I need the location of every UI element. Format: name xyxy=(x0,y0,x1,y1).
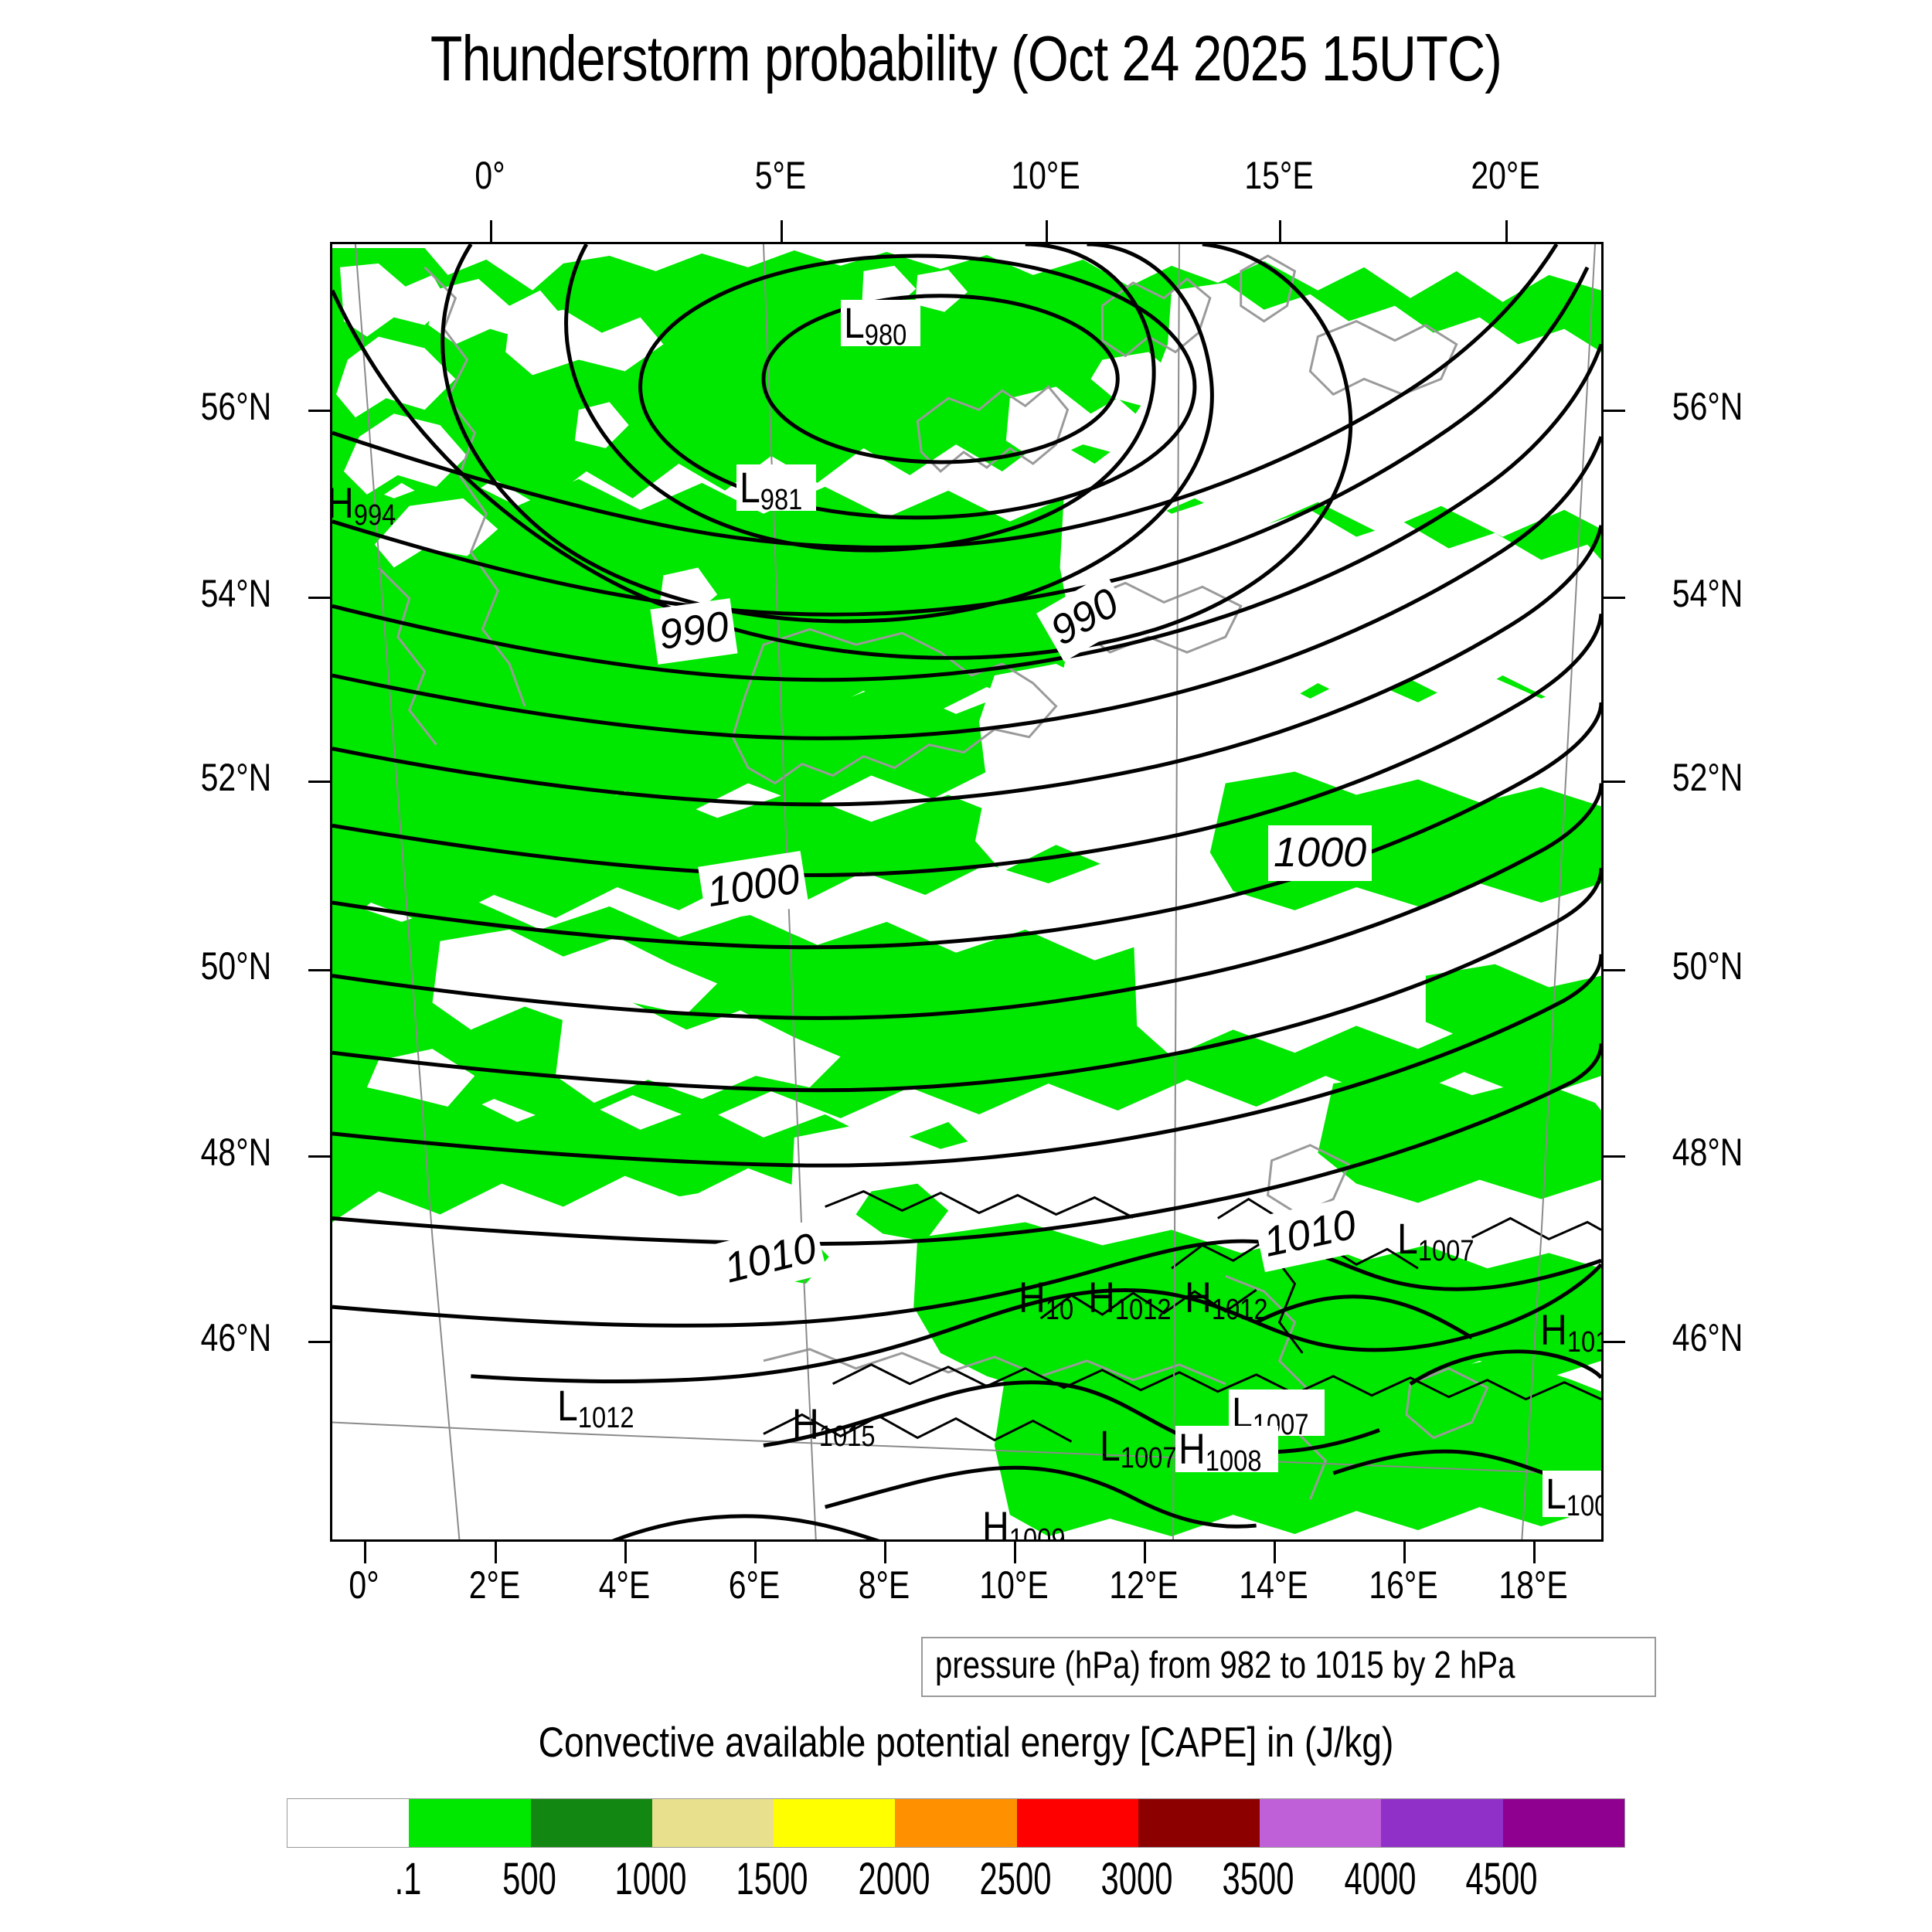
centre-value: 1007 xyxy=(1121,1442,1177,1475)
axis-label-bottom-6: 6°E xyxy=(716,1563,792,1607)
pressure-centre-low-1012: L1012 xyxy=(557,1384,647,1427)
pressure-centre-low-1007-east: L1007 xyxy=(1397,1217,1487,1260)
centre-value: 10 xyxy=(1046,1294,1073,1326)
axis-label-bottom-12: 12°E xyxy=(1100,1563,1189,1607)
tick-bottom-16 xyxy=(1403,1542,1406,1563)
axis-label-top-5: 5°E xyxy=(743,153,818,198)
axis-label-right-52: 52°N xyxy=(1672,755,1875,800)
tick-left-46 xyxy=(308,1341,330,1343)
colorbar-tick-3500: 3500 xyxy=(1213,1853,1302,1905)
colorbar-swatch-1000 xyxy=(652,1799,774,1847)
centre-type: L xyxy=(740,463,760,512)
centre-value: 1012 xyxy=(1115,1294,1172,1326)
centre-value: 1009 xyxy=(1009,1523,1066,1542)
tick-top-20 xyxy=(1505,220,1508,242)
centre-type: L xyxy=(557,1381,578,1430)
page-title: Thunderstorm probability (Oct 24 2025 15… xyxy=(174,22,1758,96)
axis-label-bottom-16: 16°E xyxy=(1359,1563,1448,1607)
axis-label-top-20: 20°E xyxy=(1461,153,1550,198)
colorbar-swatch-2000 xyxy=(895,1799,1016,1847)
tick-bottom-12 xyxy=(1144,1542,1146,1563)
weather-map[interactable]: 990 990 1000 1000 1010 1010 L980 L981 H9… xyxy=(330,242,1604,1542)
centre-value: 994 xyxy=(354,499,396,532)
centre-value: 1012 xyxy=(1212,1294,1268,1326)
tick-top-15 xyxy=(1279,220,1281,242)
pressure-centre-low-1007-c: L1007 xyxy=(1543,1471,1604,1517)
axis-label-right-46: 46°N xyxy=(1672,1315,1875,1360)
colorbar-swatch-3000 xyxy=(1138,1799,1260,1847)
pressure-centre-high-1015: H1015 xyxy=(792,1403,889,1446)
pressure-centre-high-994: H994 xyxy=(330,481,407,525)
centre-type: H xyxy=(792,1400,819,1448)
axis-label-bottom-4: 4°E xyxy=(587,1563,662,1607)
tick-left-56 xyxy=(308,410,330,412)
axis-label-bottom-10: 10°E xyxy=(970,1563,1059,1607)
pressure-centre-high-101-east: H101 xyxy=(1540,1308,1604,1352)
pressure-centre-high-1012-a: H1012 xyxy=(1088,1276,1185,1319)
centre-type: H xyxy=(982,1502,1009,1542)
cape-mask xyxy=(332,244,1601,1539)
colorbar-swatch-1500 xyxy=(774,1799,895,1847)
tick-bottom-6 xyxy=(754,1542,757,1563)
colorbar-swatch-0.1 xyxy=(409,1799,530,1847)
colorbar-tick-500: 500 xyxy=(485,1853,573,1905)
centre-value: 101 xyxy=(1567,1326,1604,1359)
tick-left-48 xyxy=(308,1155,330,1158)
tick-right-54 xyxy=(1604,597,1625,599)
centre-type: L xyxy=(1100,1421,1121,1470)
axis-label-left-56: 56°N xyxy=(69,384,271,429)
colorbar-tick-2500: 2500 xyxy=(971,1853,1060,1905)
colorbar-tick-1500: 1500 xyxy=(727,1853,816,1905)
tick-right-46 xyxy=(1604,1341,1625,1343)
tick-left-50 xyxy=(308,969,330,971)
colorbar-swatch-4000 xyxy=(1381,1799,1502,1847)
centre-type: H xyxy=(1185,1273,1212,1321)
centre-value: 1007 xyxy=(1418,1235,1475,1267)
colorbar-swatch-500 xyxy=(531,1799,652,1847)
colorbar-swatch-2500 xyxy=(1017,1799,1138,1847)
axis-label-left-46: 46°N xyxy=(69,1315,271,1360)
axis-label-top-10: 10°E xyxy=(1002,153,1090,198)
map-canvas xyxy=(332,244,1601,1539)
tick-left-52 xyxy=(308,781,330,783)
colorbar-tick-2000: 2000 xyxy=(849,1853,938,1905)
centre-value: 1012 xyxy=(578,1402,634,1434)
cape-colorbar[interactable] xyxy=(287,1798,1625,1848)
axis-label-bottom-18: 18°E xyxy=(1489,1563,1578,1607)
tick-bottom-0 xyxy=(364,1542,366,1563)
axis-label-right-56: 56°N xyxy=(1672,384,1875,429)
tick-right-50 xyxy=(1604,969,1625,971)
axis-label-right-50: 50°N xyxy=(1672,944,1875,988)
tick-right-48 xyxy=(1604,1155,1625,1158)
pressure-centre-high-10: H10 xyxy=(1019,1276,1083,1319)
centre-value: 1015 xyxy=(819,1420,876,1453)
centre-type: H xyxy=(1019,1273,1046,1321)
tick-bottom-4 xyxy=(624,1542,627,1563)
tick-bottom-8 xyxy=(884,1542,886,1563)
tick-top-10 xyxy=(1046,220,1048,242)
tick-bottom-10 xyxy=(1014,1542,1016,1563)
pressure-centre-high-1012-b: H1012 xyxy=(1185,1276,1281,1319)
axis-label-left-54: 54°N xyxy=(69,571,271,616)
centre-type: L xyxy=(844,298,865,347)
colorbar-swatch-3500 xyxy=(1260,1799,1381,1847)
colorbar-swatch-0 xyxy=(287,1799,409,1847)
axis-label-bottom-8: 8°E xyxy=(846,1563,922,1607)
axis-label-bottom-0: 0° xyxy=(332,1563,396,1607)
tick-bottom-14 xyxy=(1274,1542,1276,1563)
pressure-legend-text: pressure (hPa) from 982 to 1015 by 2 hPa xyxy=(935,1644,1515,1687)
pressure-centre-high-1009: H1009 xyxy=(982,1505,1079,1542)
centre-value: 1008 xyxy=(1206,1445,1262,1478)
colorbar-tick-1000: 1000 xyxy=(606,1853,695,1905)
colorbar-tick-3000: 3000 xyxy=(1092,1853,1181,1905)
pressure-centre-low-980: L980 xyxy=(841,300,920,346)
tick-right-56 xyxy=(1604,410,1625,412)
isobar-label-990-west: 990 xyxy=(650,598,737,665)
isobar-label-1000-east: 1000 xyxy=(1268,825,1372,881)
pressure-centre-high-1008: H1008 xyxy=(1175,1426,1278,1472)
axis-label-right-54: 54°N xyxy=(1672,571,1875,616)
axis-label-left-50: 50°N xyxy=(69,944,271,988)
tick-left-54 xyxy=(308,597,330,599)
colorbar-swatch-4500 xyxy=(1503,1799,1624,1847)
colorbar-tick-0.1: .1 xyxy=(363,1853,452,1905)
axis-label-right-48: 48°N xyxy=(1672,1130,1875,1175)
axis-label-top-0: 0° xyxy=(458,153,522,198)
centre-type: H xyxy=(1540,1305,1567,1354)
axis-label-bottom-2: 2°E xyxy=(457,1563,532,1607)
centre-type: L xyxy=(1397,1214,1418,1263)
colorbar-caption: Convective available potential energy [C… xyxy=(155,1717,1777,1767)
pressure-centre-low-981: L981 xyxy=(736,464,816,511)
tick-bottom-18 xyxy=(1533,1542,1536,1563)
tick-right-52 xyxy=(1604,781,1625,783)
centre-value: 981 xyxy=(760,484,803,516)
axis-label-bottom-14: 14°E xyxy=(1230,1563,1318,1607)
tick-top-0 xyxy=(490,220,492,242)
centre-type: H xyxy=(1179,1424,1206,1473)
tick-top-5 xyxy=(781,220,783,242)
centre-type: H xyxy=(330,478,354,527)
tick-bottom-2 xyxy=(495,1542,497,1563)
centre-type: H xyxy=(1088,1273,1115,1321)
centre-type: L xyxy=(1546,1469,1566,1518)
axis-label-left-48: 48°N xyxy=(69,1130,271,1175)
axis-label-left-52: 52°N xyxy=(69,755,271,800)
colorbar-tick-4500: 4500 xyxy=(1457,1853,1546,1905)
pressure-legend-box: pressure (hPa) from 982 to 1015 by 2 hPa xyxy=(921,1637,1656,1697)
axis-label-top-15: 15°E xyxy=(1235,153,1324,198)
colorbar-tick-4000: 4000 xyxy=(1335,1853,1424,1905)
centre-value: 980 xyxy=(865,319,907,352)
centre-value: 1007 xyxy=(1566,1490,1604,1522)
